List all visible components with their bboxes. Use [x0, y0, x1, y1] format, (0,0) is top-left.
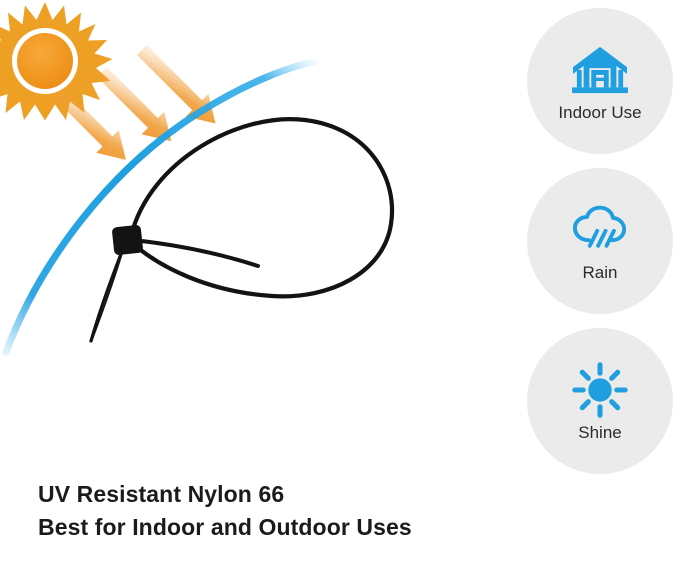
- feature-badge-label: Rain: [583, 263, 618, 283]
- house-icon: [569, 39, 631, 101]
- infographic-canvas: UV Resistant Nylon 66 Best for Indoor an…: [0, 0, 679, 574]
- feature-badge-label: Shine: [578, 423, 621, 443]
- feature-badge-indoor-use: Indoor Use: [527, 8, 673, 154]
- headline-line-1: UV Resistant Nylon 66: [38, 478, 498, 511]
- feature-badge-list: Indoor Use Rain: [527, 8, 673, 488]
- rain-cloud-icon: [569, 199, 631, 261]
- uv-resistant-cable-tie-illustration: [0, 0, 470, 470]
- feature-badge-label: Indoor Use: [558, 103, 641, 123]
- sun-shine-icon: [569, 359, 631, 421]
- feature-badge-shine: Shine: [527, 328, 673, 474]
- cable-tie-head: [112, 225, 144, 256]
- sun-burst-icon: [0, 2, 113, 121]
- cable-tie-icon: [91, 119, 392, 341]
- headline-line-2: Best for Indoor and Outdoor Uses: [38, 511, 498, 544]
- feature-badge-rain: Rain: [527, 168, 673, 314]
- headline-block: UV Resistant Nylon 66 Best for Indoor an…: [38, 478, 498, 544]
